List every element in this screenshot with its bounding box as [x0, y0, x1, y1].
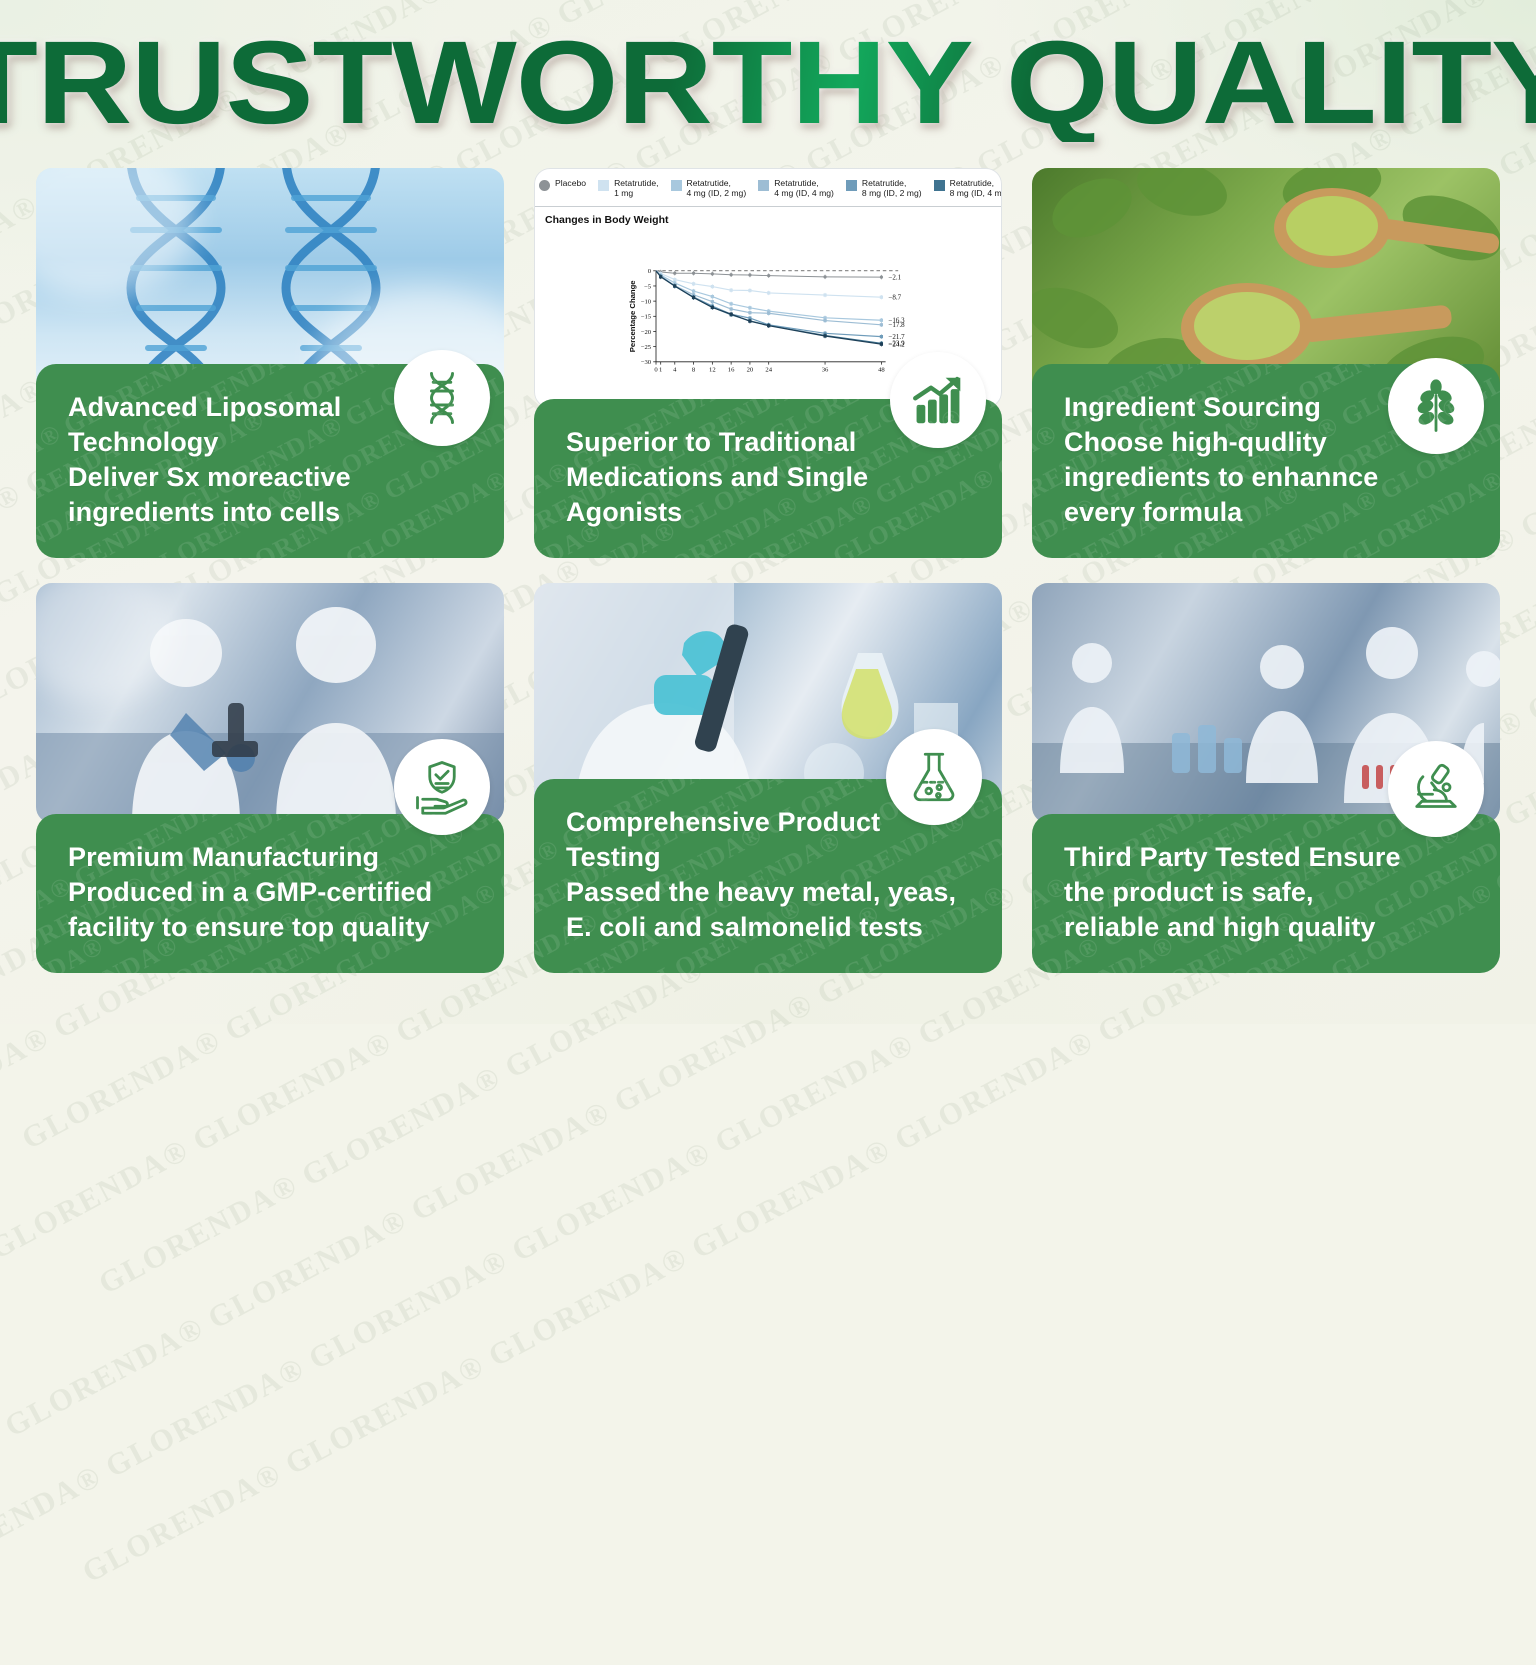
legend-swatch — [846, 180, 857, 191]
legend-label: Retatrutide, 4 mg (ID, 4 mg) — [774, 178, 834, 199]
feature-card: Premium Manufacturing Produced in a GMP-… — [36, 583, 504, 973]
svg-text:8: 8 — [692, 367, 696, 374]
legend-item: Retatrutide, 1 mg — [598, 178, 670, 199]
svg-text:−25: −25 — [641, 344, 652, 351]
svg-text:36: 36 — [822, 367, 829, 374]
svg-text:16: 16 — [728, 367, 735, 374]
flask-icon — [886, 729, 982, 825]
series-end-label: −8.7 — [888, 294, 901, 302]
legend-label: Retatrutide, 8 mg (ID, 4 mg) — [950, 178, 1002, 199]
feature-card: Placebo Retatrutide, 1 mg Retatrutide, 4… — [534, 168, 1002, 558]
series-end-label: −24.2 — [888, 341, 905, 349]
svg-text:24: 24 — [765, 367, 772, 374]
page-title: TRUSTWORTHY QUALITY — [0, 24, 1536, 142]
svg-text:−5: −5 — [644, 283, 652, 290]
chart-series-line — [656, 271, 881, 343]
legend-item: Placebo — [539, 178, 598, 191]
svg-text:48: 48 — [878, 367, 885, 374]
legend-label: Retatrutide, 4 mg (ID, 2 mg) — [687, 178, 747, 199]
feature-card: Third Party Tested Ensure the product is… — [1032, 583, 1500, 973]
chart-series-line — [656, 271, 881, 325]
card-text-panel: Third Party Tested Ensure the product is… — [1032, 814, 1500, 973]
svg-text:20: 20 — [747, 367, 754, 374]
feature-card: Ingredient Sourcing Choose high-qudlity … — [1032, 168, 1500, 558]
legend-item: Retatrutide, 8 mg (ID, 4 mg) — [934, 178, 1002, 199]
feature-card: Comprehensive Product Testing Passed the… — [534, 583, 1002, 973]
legend-swatch — [758, 180, 769, 191]
dna-icon — [394, 350, 490, 446]
card-text-panel: Premium Manufacturing Produced in a GMP-… — [36, 814, 504, 973]
microscope-icon — [1388, 741, 1484, 837]
svg-text:0: 0 — [654, 367, 658, 374]
leaf-sprig-icon — [1388, 358, 1484, 454]
legend-swatch — [598, 180, 609, 191]
svg-text:4: 4 — [673, 367, 677, 374]
legend-item: Retatrutide, 4 mg (ID, 4 mg) — [758, 178, 846, 199]
svg-text:−10: −10 — [641, 298, 652, 305]
page-title-container: TRUSTWORTHY QUALITY — [0, 24, 1536, 142]
legend-swatch — [671, 180, 682, 191]
legend-label: Retatrutide, 8 mg (ID, 2 mg) — [862, 178, 922, 199]
series-end-label: −2.1 — [888, 274, 901, 282]
chart-title: Changes in Body Weight — [535, 207, 1001, 226]
svg-text:−30: −30 — [641, 359, 652, 366]
svg-text:−15: −15 — [641, 314, 652, 321]
feature-card: Advanced Liposomal Technology Deliver Sx… — [36, 168, 504, 558]
chart-y-axis-label: Percentage Change — [628, 280, 637, 352]
card-text: Premium Manufacturing Produced in a GMP-… — [68, 840, 474, 945]
svg-text:0: 0 — [648, 268, 652, 275]
legend-label: Retatrutide, 1 mg — [614, 178, 658, 199]
legend-swatch — [934, 180, 945, 191]
card-text: Comprehensive Product Testing Passed the… — [566, 805, 972, 945]
feature-card-grid: Advanced Liposomal Technology Deliver Sx… — [36, 168, 1500, 973]
chart-legend: Placebo Retatrutide, 1 mg Retatrutide, 4… — [535, 169, 1001, 207]
chart-series-line — [656, 271, 881, 344]
legend-item: Retatrutide, 8 mg (ID, 2 mg) — [846, 178, 934, 199]
legend-item: Retatrutide, 4 mg (ID, 2 mg) — [671, 178, 759, 199]
growth-chart-icon — [890, 352, 986, 448]
svg-text:−20: −20 — [641, 329, 652, 336]
card-text: Superior to Traditional Medications and … — [566, 425, 972, 530]
hand-shield-check-icon — [394, 739, 490, 835]
card-text: Third Party Tested Ensure the product is… — [1064, 840, 1470, 945]
legend-swatch — [539, 180, 550, 191]
series-end-label: −17.8 — [888, 321, 905, 329]
svg-text:12: 12 — [709, 367, 716, 374]
svg-text:1: 1 — [659, 367, 662, 374]
legend-label: Placebo — [555, 178, 586, 188]
